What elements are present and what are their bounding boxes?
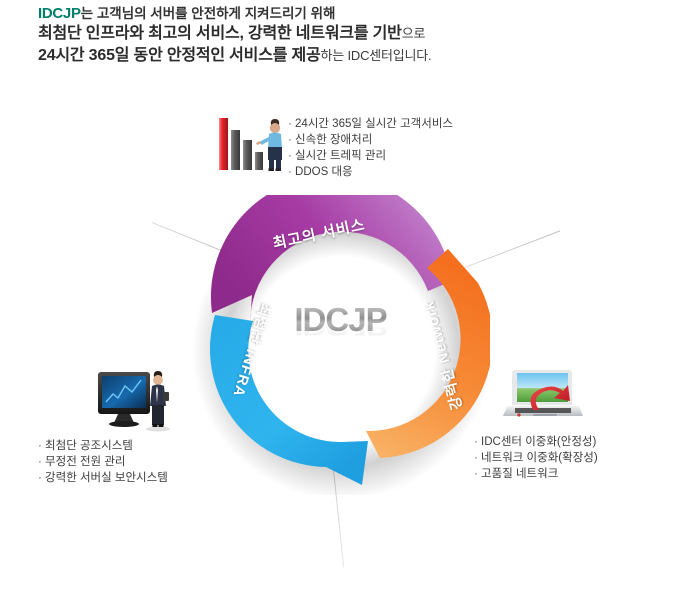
- header-line-2-main: 최첨단 인프라와 최고의 서비스, 강력한 네트워크를 기반: [38, 25, 402, 42]
- header-line-1: IDCJP는 고객님의 서버를 안전하게 지켜드리기 위해: [38, 4, 658, 23]
- header-line-3-main: 24시간 365일 동안 안정적인 서비스를 제공: [38, 47, 321, 64]
- list-item: DDOS 대응: [288, 164, 453, 180]
- list-item: 24시간 365일 실시간 고객서비스: [288, 116, 453, 132]
- header-line-1-rest: 는 고객님의 서버를 안전하게 지켜드리기 위해: [81, 6, 336, 21]
- laptop-red-arrow-icon: [503, 366, 583, 426]
- header-line-2-tail: 으로: [402, 26, 426, 41]
- header-line-2: 최첨단 인프라와 최고의 서비스, 강력한 네트워크를 기반으로: [38, 23, 658, 45]
- brand-name: IDCJP: [38, 5, 81, 22]
- center-logo-wrap: IDCJP IDCJP: [268, 303, 413, 395]
- list-item: 최첨단 공조시스템: [38, 438, 168, 454]
- callout-list-service: 24시간 365일 실시간 고객서비스 신속한 장애처리 실시간 트레픽 관리 …: [288, 116, 453, 180]
- center-logo-reflection: IDCJP: [268, 318, 413, 338]
- list-item: 강력한 서버실 보안시스템: [38, 470, 168, 486]
- bar-chart-presenter-icon: [216, 112, 288, 174]
- list-item: IDC센터 이중화(안정성): [474, 434, 598, 450]
- callout-list-infra: 최첨단 공조시스템 무정전 전원 관리 강력한 서버실 보안시스템: [38, 438, 168, 486]
- list-item: 무정전 전원 관리: [38, 454, 168, 470]
- list-item: 실시간 트레픽 관리: [288, 148, 453, 164]
- cycle-ring: 최고의 서비스 강력한 Network 최첨단 INFRA IDCJP IDCJ…: [190, 195, 490, 495]
- list-item: 고품질 네트워크: [474, 466, 598, 482]
- header-line-3-tail: 하는 IDC센터입니다.: [321, 48, 432, 63]
- desktop-monitor-businessman-icon: [96, 366, 178, 438]
- header-line-3: 24시간 365일 동안 안정적인 서비스를 제공하는 IDC센터입니다.: [38, 45, 658, 67]
- callout-list-network: IDC센터 이중화(안정성) 네트워크 이중화(확장성) 고품질 네트워크: [474, 434, 598, 482]
- list-item: 신속한 장애처리: [288, 132, 453, 148]
- header-block: IDCJP는 고객님의 서버를 안전하게 지켜드리기 위해 최첨단 인프라와 최…: [38, 4, 658, 67]
- cycle-diagram: 최고의 서비스 강력한 Network 최첨단 INFRA IDCJP IDCJ…: [165, 185, 515, 515]
- list-item: 네트워크 이중화(확장성): [474, 450, 598, 466]
